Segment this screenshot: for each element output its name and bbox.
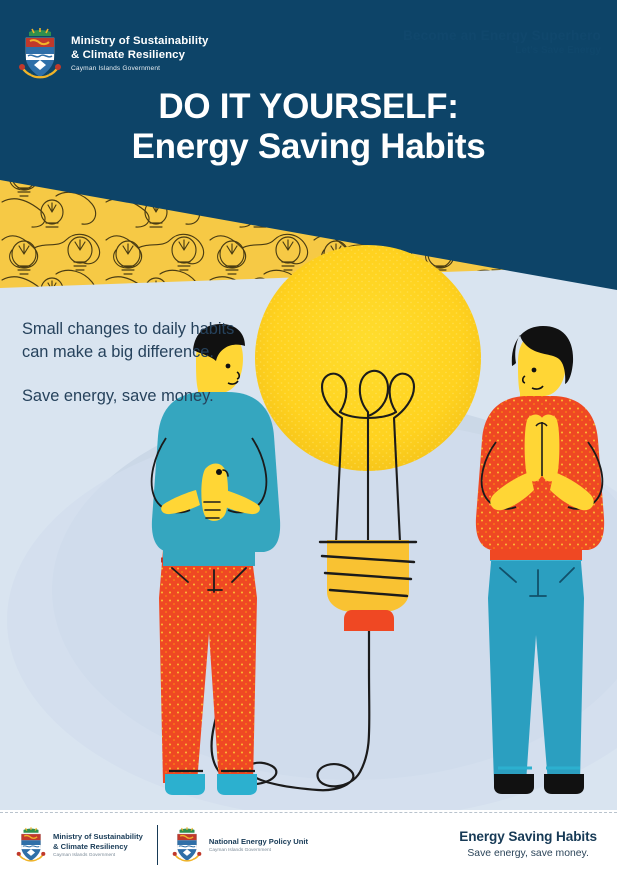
ministry-logo: Ministry of Sustainability & Climate Res… [18,27,208,81]
intro-paragraph-1: Small changes to daily habits can make a… [22,318,237,365]
footer: Ministry of Sustainability & Climate Res… [0,813,617,881]
poster-canvas: Ministry of Sustainability & Climate Res… [0,0,617,881]
ghost-watermark-text: Become an Energy Superhero Let's Save En… [403,28,601,56]
eye-icon [532,368,537,373]
footer-logo-divider [157,825,158,865]
footer-logo-line1: National Energy Policy Unit [209,837,308,846]
footer-logo-line1: Ministry of Sustainability [53,832,143,841]
footer-logo-gov: Cayman Islands Government [53,853,143,858]
ghost-line-1: Become an Energy Superhero [403,28,601,43]
footer-logo-line2: & Climate Resiliency [53,842,143,851]
ministry-name-line2: & Climate Resiliency [71,49,208,62]
ministry-name-line1: Ministry of Sustainability [71,35,208,48]
footer-logo-gov: Cayman Islands Government [209,848,308,853]
cayman-islands-crest-icon [18,27,62,81]
ghost-line-2: Let's Save Energy [403,45,601,56]
hero-illustration [0,150,617,810]
footer-tagline: Energy Saving Habits Save energy, save m… [459,829,597,859]
government-label: Cayman Islands Government [71,65,208,73]
title-line-1: DO IT YOURSELF: [0,88,617,125]
footer-tagline-sub: Save energy, save money. [459,848,597,859]
footer-logo-text: Ministry of Sustainability & Climate Res… [53,832,143,858]
ministry-logo-text: Ministry of Sustainability & Climate Res… [71,35,208,73]
footer-tagline-title: Energy Saving Habits [459,829,597,844]
footer-logos: Ministry of Sustainability & Climate Res… [16,825,308,865]
cayman-islands-crest-icon [16,826,46,864]
cayman-islands-crest-icon [172,826,202,864]
footer-logo-nepu: National Energy Policy Unit Cayman Islan… [172,826,308,864]
intro-copy: Small changes to daily habits can make a… [22,318,237,408]
bulb-contact [344,610,394,631]
footer-logo-ministry: Ministry of Sustainability & Climate Res… [16,826,143,864]
intro-paragraph-2: Save energy, save money. [22,385,237,408]
footer-logo-text: National Energy Policy Unit Cayman Islan… [209,837,308,853]
